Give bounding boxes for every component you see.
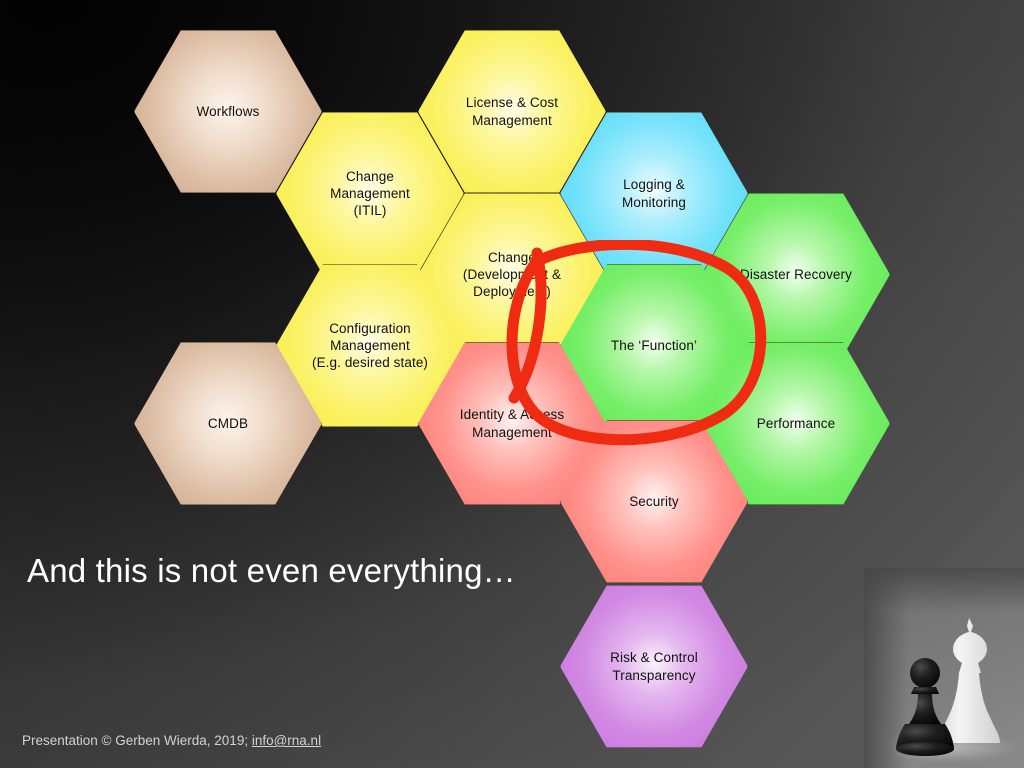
footer-credit: Presentation © Gerben Wierda, 2019; info… — [22, 733, 321, 748]
footer-text: Presentation © Gerben Wierda, 2019; — [22, 733, 252, 748]
hexagon-label: Logging & Monitoring — [622, 176, 686, 211]
hexagon-label: Performance — [757, 415, 835, 432]
presentation-slide: WorkflowsChange Management (ITIL)License… — [0, 0, 1024, 768]
hexagon-label: License & Cost Management — [466, 94, 558, 129]
hexagon-label: Identity & Access Management — [460, 406, 565, 441]
chess-pieces-photo — [864, 568, 1024, 768]
page-title: And this is not even everything… — [27, 552, 516, 590]
hexagon-label: Change Management (ITIL) — [330, 168, 410, 220]
hexagon-label: Change (Development & Deployment) — [463, 249, 561, 301]
hexagon-label: Workflows — [197, 103, 260, 120]
contact-email-link[interactable]: info@rna.nl — [252, 733, 321, 748]
hexagon-label: Disaster Recovery — [740, 266, 852, 283]
hexagon-label: Configuration Management (E.g. desired s… — [312, 320, 428, 372]
black-pawn-icon — [896, 656, 954, 756]
hexagon-label: Security — [629, 493, 679, 510]
hexagon-label: Risk & Control Transparency — [610, 649, 698, 684]
hexagon-label: The ‘Function’ — [611, 337, 697, 354]
hexagon-risk-control[interactable]: Risk & Control Transparency — [560, 585, 748, 748]
hexagon-label: CMDB — [208, 415, 248, 432]
